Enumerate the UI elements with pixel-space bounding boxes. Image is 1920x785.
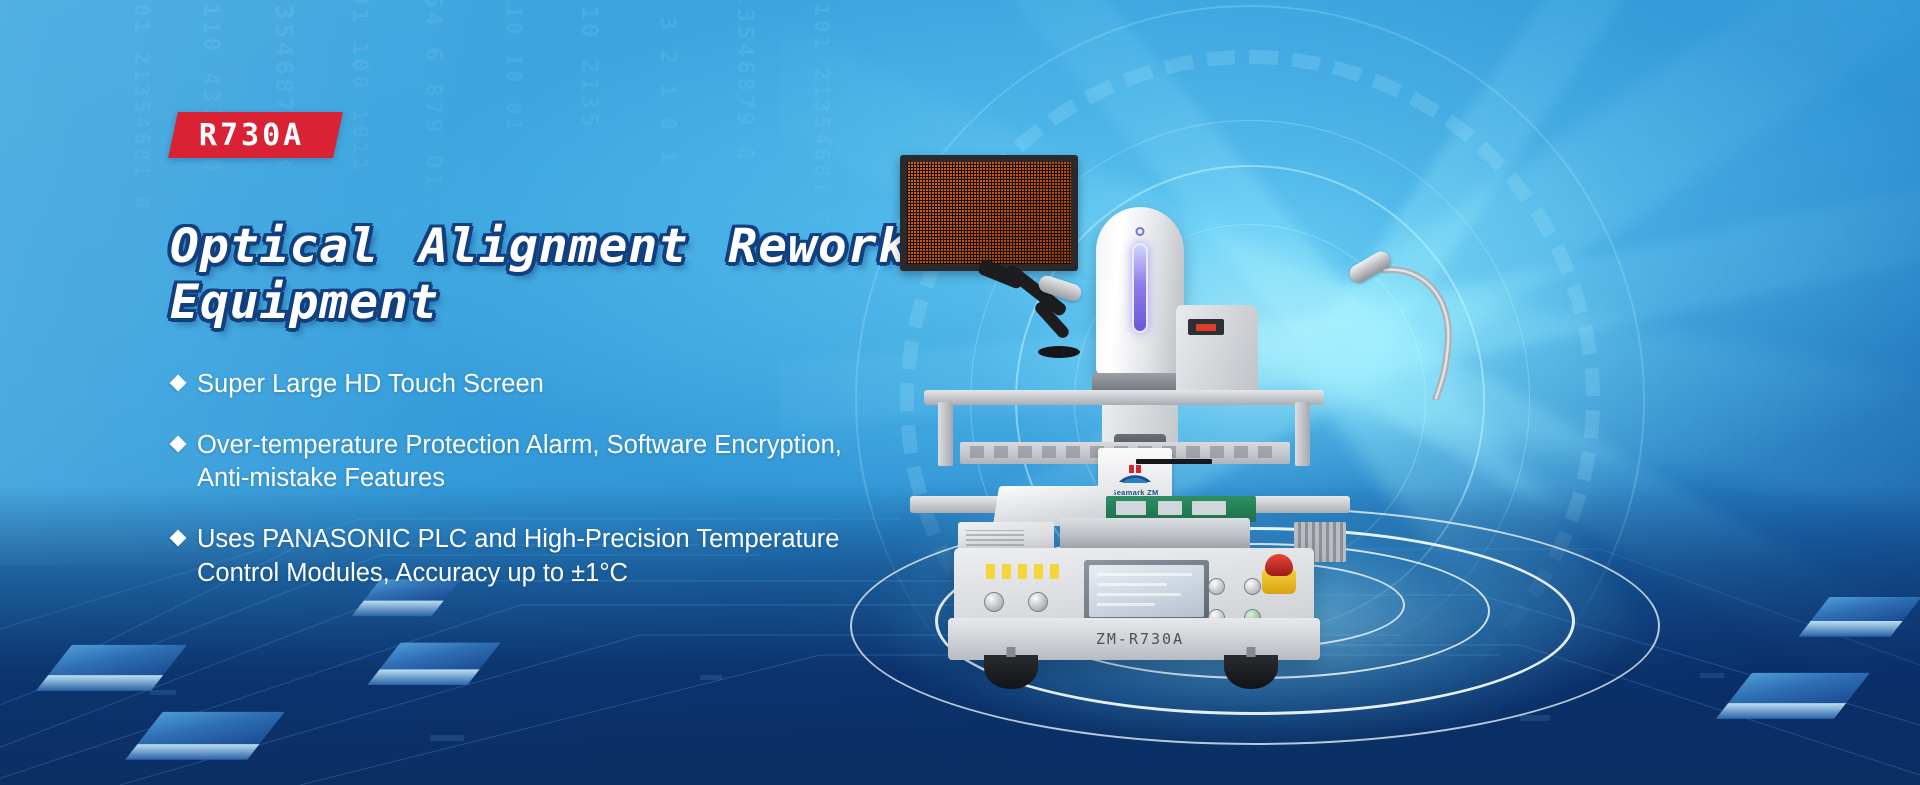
column-indicator-icon <box>1136 227 1145 236</box>
column-neck <box>1092 373 1188 391</box>
knob[interactable] <box>1028 592 1048 612</box>
console-button[interactable] <box>1244 578 1261 595</box>
feature-text: Over-temperature Protection Alarm, Softw… <box>197 429 897 495</box>
feature-list: Super Large HD Touch Screen Over-tempera… <box>172 368 932 618</box>
console-button[interactable] <box>1208 578 1225 595</box>
feature-item: Over-temperature Protection Alarm, Softw… <box>172 429 932 495</box>
knob[interactable] <box>984 592 1004 612</box>
feature-text: Uses PANASONIC PLC and High-Precision Te… <box>197 523 897 589</box>
model-plate-label: ZM-R730A <box>954 630 1326 648</box>
model-badge: R730A <box>168 112 343 158</box>
board-holder <box>1060 518 1250 552</box>
machine-feet <box>954 655 1314 701</box>
column-light-strip <box>1132 243 1148 333</box>
emergency-stop-button[interactable] <box>1262 554 1296 594</box>
monitor-screen <box>907 162 1071 264</box>
monitor-arm <box>978 262 1094 358</box>
diamond-bullet-icon <box>170 375 187 392</box>
diamond-bullet-icon <box>170 436 187 453</box>
page-title: Optical Alignment Rework Equipment <box>170 219 945 330</box>
work-table <box>910 460 1350 556</box>
chip-block <box>1811 597 1920 621</box>
touch-screen[interactable] <box>1084 560 1209 622</box>
hd-monitor <box>900 155 1078 271</box>
controller-box <box>1176 305 1258 401</box>
title-line-1: Optical Alignment Rework <box>170 219 945 274</box>
chip-block <box>1728 673 1870 703</box>
feature-item: Super Large HD Touch Screen <box>172 368 932 401</box>
temperature-display <box>1188 319 1224 335</box>
selector-knobs <box>984 592 1048 612</box>
status-leds <box>986 564 1059 579</box>
diamond-bullet-icon <box>170 530 187 547</box>
title-line-2: Equipment <box>170 275 945 330</box>
feature-item: Uses PANASONIC PLC and High-Precision Te… <box>172 523 932 589</box>
camera-column <box>1096 207 1184 375</box>
model-badge-label: R730A <box>199 118 304 153</box>
product-machine: Seamark ZM <box>880 0 1620 785</box>
product-banner: 0101 21354681 0 0110 4321 0 213546879 8 … <box>0 0 1920 785</box>
text-content-panel: R730A Optical Alignment Rework Equipment… <box>0 0 940 785</box>
control-console: ZM-R730A <box>954 548 1314 660</box>
feature-text: Super Large HD Touch Screen <box>197 368 544 401</box>
gooseneck-lamp <box>1348 240 1478 400</box>
